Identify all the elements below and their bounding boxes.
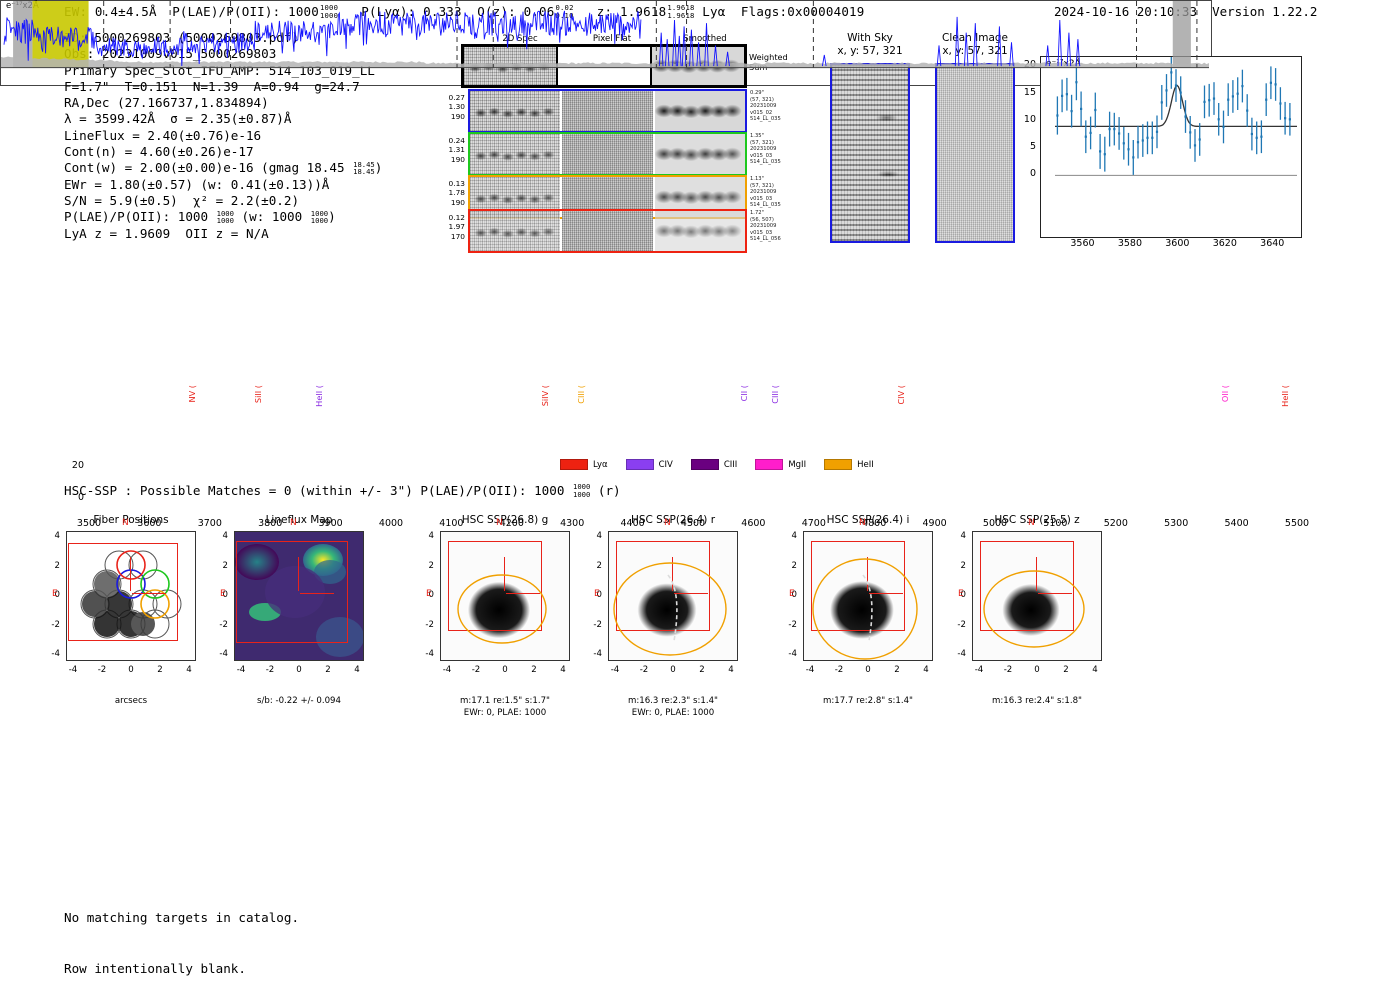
cutout-3-ytick: -4 (586, 649, 602, 659)
cutout-0-ytick: -2 (44, 620, 60, 630)
cutout-4-ytick: 4 (781, 531, 797, 541)
line-profile-xtick: 3560 (1066, 238, 1098, 249)
cutout-3-xtick: 4 (722, 665, 740, 675)
emission-line-label-SiIV: SiIV ( (540, 385, 550, 406)
cutout-4-ytick: -4 (781, 649, 797, 659)
spec-row-4-meta: 1.72"(56, 507)20231009v015_03514_LL_056 (750, 210, 781, 243)
cutout-4-ytick: -2 (781, 620, 797, 630)
spec-row-4[interactable] (468, 209, 747, 253)
cutout-caption-4: m:17.7 re:2.8" s:1.4" (773, 696, 963, 708)
legend-item-HeII: HeII (824, 459, 874, 470)
cutout-3-ytick: 2 (586, 561, 602, 571)
cutout-caption-0: arcsecs (36, 696, 226, 708)
emission-line-label-CIII: CIII ( (770, 385, 780, 404)
cutout-1-xtick: 4 (348, 665, 366, 675)
cutout-2-compass-e: E (426, 589, 432, 599)
cutout-caption-2: m:17.1 re:1.5" s:1.7"EWr: 0, PLAE: 1000 (410, 696, 600, 719)
cutout-2-crosshair-h (506, 593, 540, 594)
cutout-5-ytick: 2 (950, 561, 966, 571)
cutout-0-ytick: -4 (44, 649, 60, 659)
footer-line-1: No matching targets in catalog. (64, 909, 299, 926)
cutout-0-xtick: -2 (93, 665, 111, 675)
cutout-2-ytick: -2 (418, 620, 434, 630)
info-radec: RA,Dec (27.166737,1.834894) (64, 95, 382, 111)
info-lineflux: LineFlux = 2.40(±0.76)e-16 (64, 128, 382, 144)
line-profile-xtick: 3620 (1209, 238, 1241, 249)
legend-swatch-HeII (824, 459, 852, 470)
legend-swatch-CIV (626, 459, 654, 470)
cutout-4-compass-e: E (789, 589, 795, 599)
cutout-1-compass-n: N (290, 518, 297, 528)
spec-row-4-2dspec (470, 211, 560, 251)
cutout-2-ytick: 4 (418, 531, 434, 541)
cutout-3-ytick: 4 (586, 531, 602, 541)
spec-row-1-meta: 0.29"(57, 321)20231009v015_02514_LL_035 (750, 90, 781, 123)
cutout-5-compass-n: N (1028, 518, 1035, 528)
cutout-1-red-box (236, 541, 348, 643)
cutout-5-ytick: -4 (950, 649, 966, 659)
hsc-header: HSC-SSP : Possible Matches = 0 (within +… (64, 483, 621, 498)
cutout-1-ytick: 2 (212, 561, 228, 571)
cutout-title-0: Fiber Positions (52, 514, 210, 526)
cutout-5-crosshair-h (1038, 593, 1072, 594)
cutout-caption-3: m:16.3 re:2.3" s:1.4"EWr: 0, PLAE: 1000 (578, 696, 768, 719)
line-profile-xtick: 3580 (1114, 238, 1146, 249)
cutout-5-red-box (980, 541, 1074, 631)
cutout-3-crosshair-v (672, 557, 673, 591)
spec-row-2[interactable] (468, 132, 747, 176)
line-profile-ytick: 5 (1018, 141, 1036, 152)
legend-label-CIV: CIV (659, 460, 673, 470)
cutout-5-ytick: -2 (950, 620, 966, 630)
cutout-2-xtick: 4 (554, 665, 572, 675)
legend-swatch-CIII (691, 459, 719, 470)
spec-row-3-meta: 1.13"(57, 321)20231009v015_03514_LL_035 (750, 176, 781, 209)
cutout-2-red-box (448, 541, 542, 631)
footer-line-2: Row intentionally blank. (64, 960, 299, 977)
cutout-1-xtick: 2 (319, 665, 337, 675)
cutout-4-crosshair-v (867, 557, 868, 591)
full-spectrum-plot[interactable]: e⁻¹⁷x2Å (0, 0, 1212, 86)
legend-label-CIII: CIII (724, 460, 737, 470)
full-spectrum-legend: LyαCIVCIIIMgIIHeII (560, 455, 892, 474)
cutout-4-xtick: -4 (801, 665, 819, 675)
cutout-title-4: HSC SSP(26.4) i (789, 514, 947, 526)
cutout-1-ytick: -2 (212, 620, 228, 630)
spec-row-2-pixelflat (562, 134, 653, 174)
emission-line-label-HeII: HeII ( (314, 385, 324, 407)
cutout-4-ytick: 2 (781, 561, 797, 571)
cutout-3-red-box (616, 541, 710, 631)
cutout-1-xtick: -2 (261, 665, 279, 675)
emission-line-label-SiII: SiII ( (253, 385, 263, 403)
cutout-3-compass-e: E (594, 589, 600, 599)
cutout-5-xtick: 2 (1057, 665, 1075, 675)
cutout-2-crosshair-v (504, 557, 505, 591)
cutout-5-crosshair-v (1036, 557, 1037, 591)
cutout-2-xtick: 0 (496, 665, 514, 675)
legend-label-HeII: HeII (857, 460, 874, 470)
full-spectrum-xtick: 5300 (1154, 518, 1198, 529)
full-spectrum-xtick: 5500 (1275, 518, 1319, 529)
cutout-0-xtick: 2 (151, 665, 169, 675)
cutout-5-xtick: 4 (1086, 665, 1104, 675)
emission-line-label-CIII: CIII ( (576, 385, 586, 404)
full-spectrum-svg (0, 0, 1210, 84)
line-profile-ytick: 10 (1018, 114, 1036, 125)
info-sn-chi2: S/N = 5.9(±0.5) χ² = 2.2(±0.2) (64, 193, 382, 209)
cutout-1-xtick: 0 (290, 665, 308, 675)
cutout-2-compass-n: N (496, 518, 503, 528)
legend-label-MgII: MgII (788, 460, 806, 470)
cutout-2-xtick: 2 (525, 665, 543, 675)
spec-row-values-4: 0.121.97170 (437, 213, 465, 241)
cutout-4-xtick: 4 (917, 665, 935, 675)
legend-item-Lyα: Lyα (560, 459, 608, 470)
spec-row-1-smoothed (655, 91, 745, 131)
line-profile-xtick: 3600 (1161, 238, 1193, 249)
legend-item-MgII: MgII (755, 459, 806, 470)
cutout-5-xtick: -2 (999, 665, 1017, 675)
cutout-0-crosshair-h (132, 593, 166, 594)
legend-item-CIV: CIV (626, 459, 673, 470)
cutout-4-crosshair-h (869, 593, 903, 594)
spec-row-1-pixelflat (562, 91, 653, 131)
info-wavelength: λ = 3599.42Å σ = 2.35(±0.87)Å (64, 111, 382, 127)
spec-row-1[interactable] (468, 89, 747, 133)
cutout-title-1: Lineflux Map (220, 514, 378, 526)
cutout-3-xtick: -4 (606, 665, 624, 675)
cutout-4-compass-n: N (859, 518, 866, 528)
cutout-0-xtick: 0 (122, 665, 140, 675)
cutout-0-xtick: -4 (64, 665, 82, 675)
cutout-1-ytick: -4 (212, 649, 228, 659)
cutout-4-xtick: 2 (888, 665, 906, 675)
cutout-3-ytick: -2 (586, 620, 602, 630)
cutout-caption-1: s/b: -0.22 +/- 0.094 (204, 696, 394, 708)
legend-swatch-MgII (755, 459, 783, 470)
cutout-caption-5: m:16.3 re:2.4" s:1.8" (942, 696, 1132, 708)
emission-line-label-HeII: HeII ( (1280, 385, 1290, 407)
cutout-5-compass-e: E (958, 589, 964, 599)
full-spectrum-ytick: 20 (64, 460, 84, 471)
cutout-0-xtick: 4 (180, 665, 198, 675)
spec-row-1-2dspec (470, 91, 560, 131)
emission-line-label-CII: CII ( (739, 385, 749, 401)
cutout-2-xtick: -2 (467, 665, 485, 675)
spec-row-2-smoothed (655, 134, 745, 174)
legend-item-CIII: CIII (691, 459, 737, 470)
cutout-1-xtick: -4 (232, 665, 250, 675)
cutout-1-crosshair-h (300, 593, 334, 594)
footer-notes: No matching targets in catalog. Row inte… (64, 875, 299, 994)
version: Version 1.22.2 (1212, 4, 1317, 19)
cutout-3-xtick: 2 (693, 665, 711, 675)
info-ewr: EWr = 1.80(±0.57) (w: 0.41(±0.13))Å (64, 177, 382, 193)
cutout-3-xtick: -2 (635, 665, 653, 675)
cutout-5-xtick: -4 (970, 665, 988, 675)
cutout-title-2: HSC SSP(26.8) g (426, 514, 584, 526)
spec-row-values-3: 0.131.78190 (437, 179, 465, 207)
cutout-4-red-box (811, 541, 905, 631)
full-spectrum-xtick: 5400 (1215, 518, 1259, 529)
line-profile-ytick: 0 (1018, 168, 1036, 179)
cutout-3-xtick: 0 (664, 665, 682, 675)
cutout-2-ytick: 2 (418, 561, 434, 571)
cutout-3-compass-n: N (664, 518, 671, 528)
cutout-3-crosshair-h (674, 593, 708, 594)
line-profile-ytick: 15 (1018, 87, 1036, 98)
cutout-1-compass-e: E (220, 589, 226, 599)
spec-row-4-smoothed (655, 211, 745, 251)
legend-label-Lyα: Lyα (593, 460, 608, 470)
cutout-2-xtick: -4 (438, 665, 456, 675)
info-plae: P(LAE)/P(OII): 1000 10001000 (w: 1000 10… (64, 209, 382, 225)
info-cont-w: Cont(w) = 2.00(±0.00)e-16 (gmag 18.45 18… (64, 160, 382, 176)
cutout-title-5: HSC SSP(25.5) z (958, 514, 1116, 526)
cutout-0-ytick: 2 (44, 561, 60, 571)
cutout-2-ytick: -4 (418, 649, 434, 659)
clean-image[interactable] (935, 63, 1015, 243)
emission-line-label-CIV: CIV ( (896, 385, 906, 405)
spec-row-2-meta: 1.35"(57, 321)20231009v015_03514_LL_035 (750, 133, 781, 166)
cutout-0-red-box (68, 543, 178, 641)
cutout-0-compass-e: E (52, 589, 58, 599)
line-profile-svg (1041, 57, 1301, 237)
spec-row-4-pixelflat (562, 211, 653, 251)
emission-line-label-OII: OII ( (1220, 385, 1230, 402)
spec-row-values-2: 0.241.31190 (437, 136, 465, 164)
cutout-title-3: HSC SSP(26.4) r (594, 514, 752, 526)
with-sky-image[interactable] (830, 63, 910, 243)
info-cont-n: Cont(n) = 4.60(±0.26)e-17 (64, 144, 382, 160)
spec-row-2-2dspec (470, 134, 560, 174)
legend-swatch-Lyα (560, 459, 588, 470)
info-redshifts: LyA z = 1.9609 OII z = N/A (64, 226, 382, 242)
cutout-0-crosshair-v (130, 557, 131, 591)
cutout-5-ytick: 4 (950, 531, 966, 541)
cutout-1-ytick: 4 (212, 531, 228, 541)
line-profile-xtick: 3640 (1256, 238, 1288, 249)
cutout-4-xtick: -2 (830, 665, 848, 675)
spec-row-values-1: 0.271.30190 (437, 93, 465, 121)
cutout-0-ytick: 4 (44, 531, 60, 541)
emission-line-label-NV: NV ( (187, 385, 197, 403)
cutout-4-xtick: 0 (859, 665, 877, 675)
cutout-5-xtick: 0 (1028, 665, 1046, 675)
cutout-0-compass-n: N (122, 518, 129, 528)
cutout-1-crosshair-v (298, 557, 299, 591)
